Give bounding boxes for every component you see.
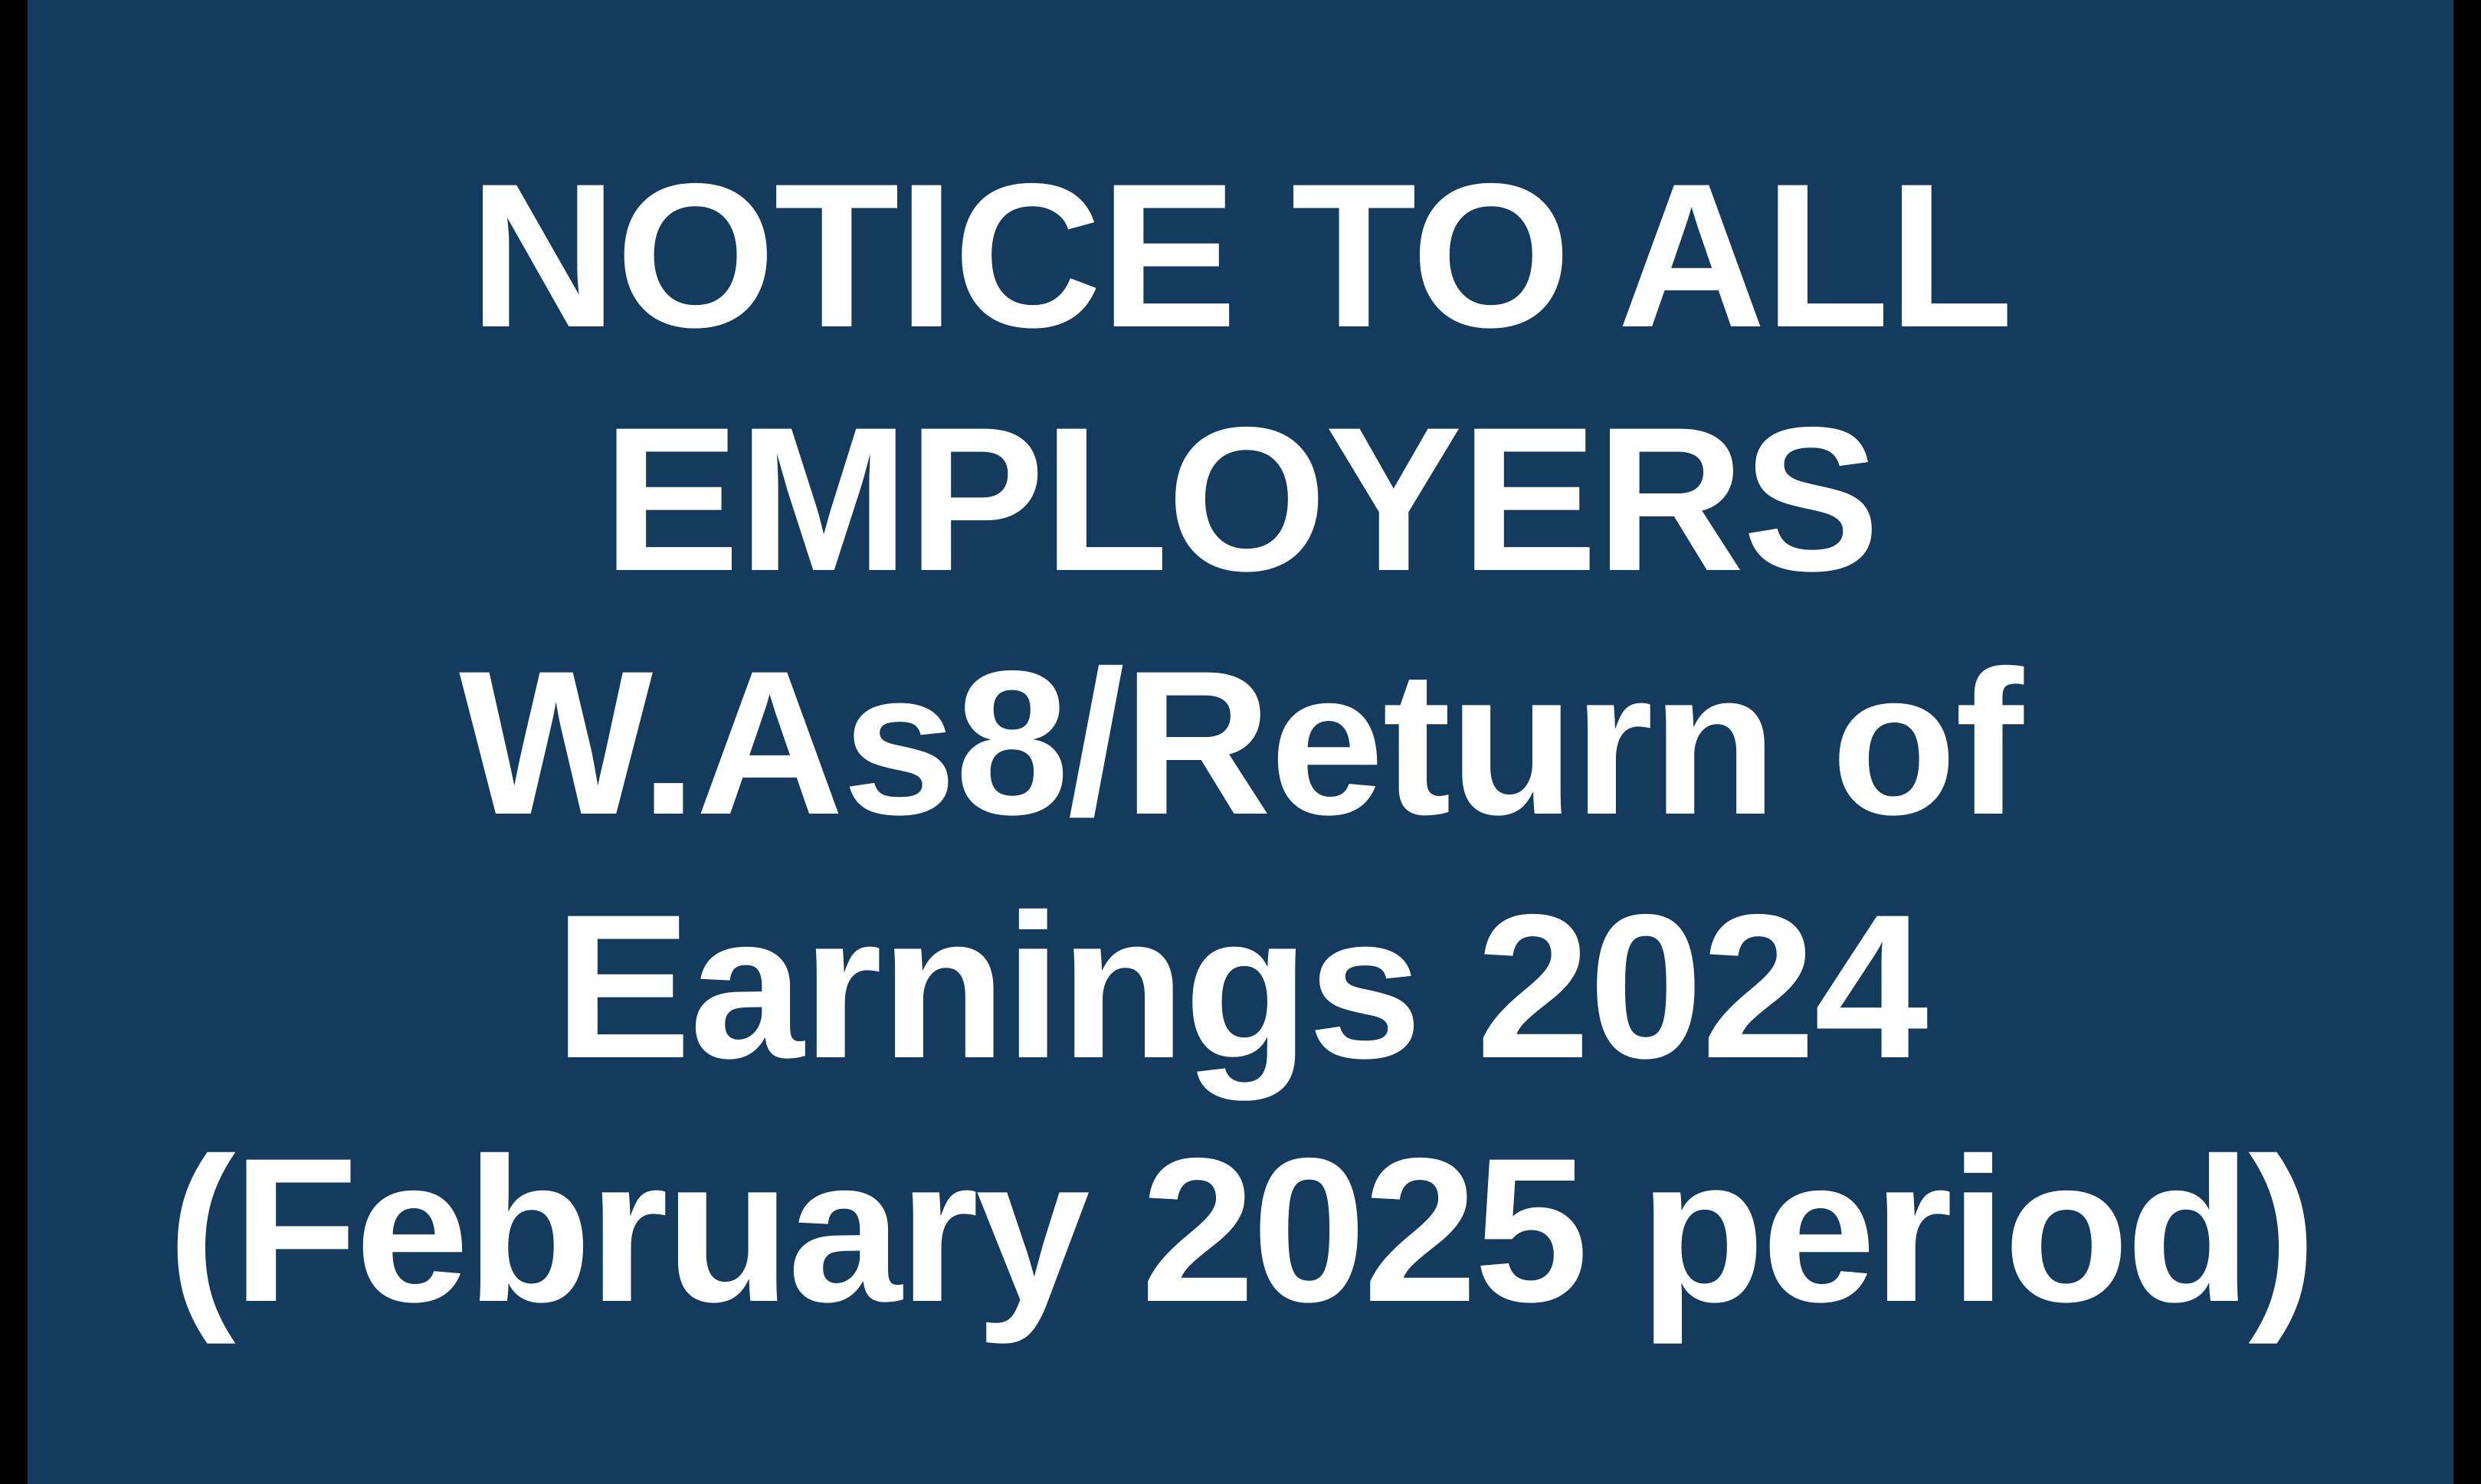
notice-heading: NOTICE TO ALL EMPLOYERS W.As8/Return of … bbox=[28, 133, 2453, 1351]
notice-line-2: EMPLOYERS bbox=[28, 377, 2453, 621]
notice-screen: NOTICE TO ALL EMPLOYERS W.As8/Return of … bbox=[0, 0, 2481, 1484]
notice-line-5: (February 2025 period) bbox=[28, 1108, 2453, 1351]
notice-line-4: Earnings 2024 bbox=[28, 864, 2453, 1108]
notice-canvas: NOTICE TO ALL EMPLOYERS W.As8/Return of … bbox=[28, 0, 2453, 1484]
left-black-border bbox=[0, 0, 28, 1484]
notice-line-3: W.As8/Return of bbox=[28, 621, 2453, 864]
notice-line-1: NOTICE TO ALL bbox=[28, 133, 2453, 377]
right-black-border bbox=[2453, 0, 2481, 1484]
